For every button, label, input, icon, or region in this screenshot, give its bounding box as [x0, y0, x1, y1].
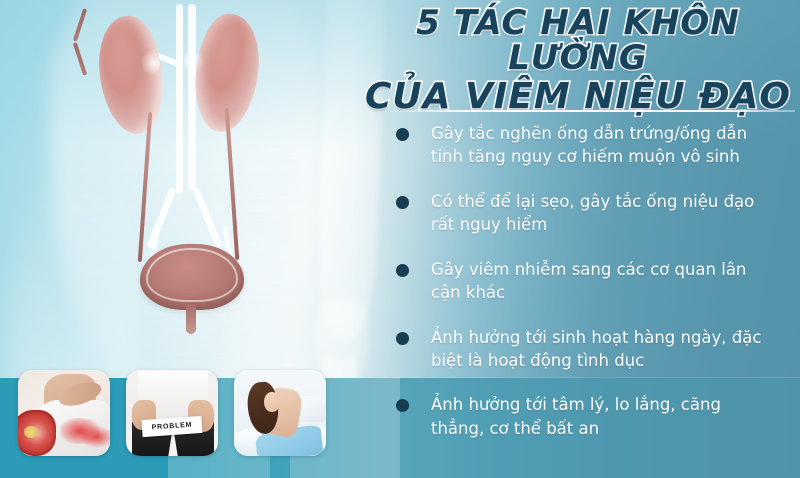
- kidney-cutaway-icon: [18, 410, 56, 456]
- list-item: Có thể để lại sẹo, gây tắc ống niệu đạo …: [396, 190, 796, 237]
- title-line-1: 5 TÁC HẠI KHÔN LƯỜNG: [360, 6, 796, 75]
- bullet-dot-icon: [396, 196, 409, 209]
- bullet-text: Ảnh hưởng tới sinh hoạt hàng ngày, đặc b…: [431, 326, 779, 373]
- vena-cava-vessel-icon: [188, 4, 196, 190]
- problem-sign-text: PROBLEM: [151, 422, 192, 432]
- list-item: Gây tắc nghẽn ống dẫn trứng/ống dẫn tinh…: [396, 122, 796, 169]
- thumbnail-back-pain-kidney[interactable]: [18, 370, 110, 456]
- bullet-dot-icon: [396, 128, 409, 141]
- urinary-system-illustration: [78, 8, 308, 338]
- urethra-icon: [186, 304, 196, 334]
- thumbnail-problem-sign[interactable]: PROBLEM: [126, 370, 218, 456]
- thumbnail-woman-back-pain[interactable]: [234, 370, 326, 456]
- bullet-text: Ảnh hưởng tới tâm lý, lo lắng, căng thẳn…: [431, 393, 779, 440]
- iliac-artery-left-icon: [146, 187, 176, 249]
- thumbnail-row: PROBLEM: [18, 370, 326, 456]
- kidney-hilum-left: [140, 50, 160, 76]
- bullet-text: Có thể để lại sẹo, gây tắc ống niệu đạo …: [431, 190, 779, 237]
- poster-title: 5 TÁC HẠI KHÔN LƯỜNG CỦA VIÊM NIỆU ĐẠO: [360, 6, 796, 116]
- bullet-text: Gây viêm nhiễm sang các cơ quan lân cận …: [431, 258, 779, 305]
- infographic-poster: PROBLEM 5 TÁC HẠI KHÔN LƯỜNG CỦA VIÊM NI…: [0, 0, 800, 478]
- aorta-vessel-icon: [176, 4, 183, 194]
- bullet-dot-icon: [396, 264, 409, 277]
- pain-highlight: [80, 426, 110, 448]
- list-item: Ảnh hưởng tới tâm lý, lo lắng, căng thẳn…: [396, 393, 796, 440]
- list-item: Ảnh hưởng tới sinh hoạt hàng ngày, đặc b…: [396, 326, 796, 373]
- kidney-left-icon: [94, 13, 168, 137]
- bladder-outline: [146, 248, 238, 302]
- bullet-list: Gây tắc nghẽn ống dẫn trứng/ống dẫn tinh…: [396, 122, 796, 461]
- bullet-dot-icon: [396, 332, 409, 345]
- kidney-hilum-right: [184, 48, 204, 74]
- bullet-dot-icon: [396, 399, 409, 412]
- title-divider: [393, 110, 795, 112]
- iliac-artery-right-icon: [192, 187, 222, 249]
- list-item: Gây viêm nhiễm sang các cơ quan lân cận …: [396, 258, 796, 305]
- photo-shape: [264, 392, 280, 412]
- bullet-text: Gây tắc nghẽn ống dẫn trứng/ống dẫn tinh…: [431, 122, 779, 169]
